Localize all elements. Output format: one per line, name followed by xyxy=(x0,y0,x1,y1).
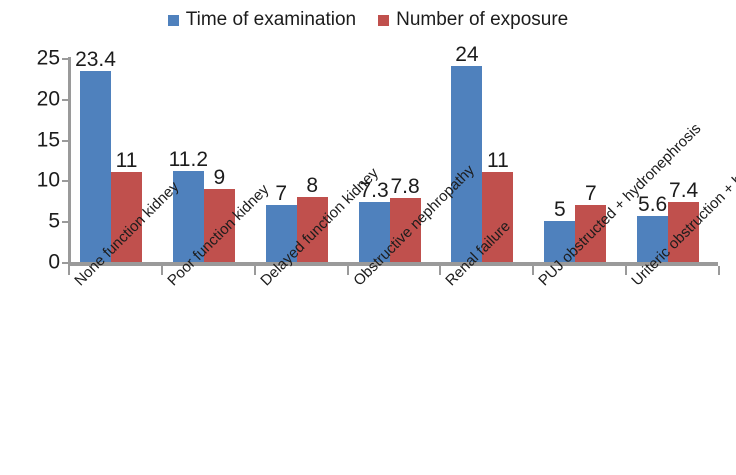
bar-value-label: 5.6 xyxy=(638,193,667,216)
bar-value-label: 8 xyxy=(306,174,318,197)
bar-value-label: 23.4 xyxy=(75,48,116,71)
y-axis-tick-label: 25 xyxy=(37,48,60,69)
bar-group: 78 xyxy=(254,58,347,262)
bar[interactable]: 23.4 xyxy=(80,71,111,262)
plot-area: 0510152025 23.41111.29787.37.82411575.67… xyxy=(68,58,718,262)
x-axis-line xyxy=(68,262,718,266)
bar-chart: Time of examination Number of exposure 0… xyxy=(0,0,736,475)
legend-label: Time of examination xyxy=(186,10,356,29)
legend-item-time-of-examination: Time of examination xyxy=(168,10,356,29)
bar-value-label: 24 xyxy=(455,43,478,66)
x-axis-tick-mark xyxy=(718,266,720,275)
y-axis-tick-label: 10 xyxy=(37,170,60,191)
y-axis-tick-mark xyxy=(62,262,68,264)
bar-group: 23.411 xyxy=(68,58,161,262)
x-axis-tick-mark xyxy=(347,266,349,275)
square-marker-icon xyxy=(378,15,389,26)
bar-value-label: 9 xyxy=(214,166,226,189)
bar-value-label: 7 xyxy=(275,182,287,205)
bar-group: 2411 xyxy=(439,58,532,262)
bar-value-label: 7 xyxy=(585,182,597,205)
y-axis-tick-label: 15 xyxy=(37,129,60,150)
bar-group: 7.37.8 xyxy=(347,58,440,262)
bar-group: 57 xyxy=(532,58,625,262)
legend-label: Number of exposure xyxy=(396,10,568,29)
y-axis-tick-label: 0 xyxy=(48,252,60,273)
x-axis-tick-mark xyxy=(532,266,534,275)
x-axis-tick-mark xyxy=(254,266,256,275)
x-axis-tick-mark xyxy=(439,266,441,275)
bar-value-label: 7.4 xyxy=(669,179,698,202)
y-axis-tick-label: 20 xyxy=(37,88,60,109)
bar-value-label: 5 xyxy=(554,198,566,221)
bar-value-label: 11 xyxy=(116,149,138,172)
bar-group: 11.29 xyxy=(161,58,254,262)
x-axis-tick-mark xyxy=(68,266,70,275)
bar-value-label: 11 xyxy=(487,149,509,172)
square-marker-icon xyxy=(168,15,179,26)
y-axis-tick-label: 5 xyxy=(48,211,60,232)
x-axis-tick-mark xyxy=(161,266,163,275)
x-axis-tick-mark xyxy=(625,266,627,275)
bar-value-label: 11.2 xyxy=(169,148,208,171)
chart-legend: Time of examination Number of exposure xyxy=(0,6,736,32)
legend-item-number-of-exposure: Number of exposure xyxy=(378,10,568,29)
bar-value-label: 7.8 xyxy=(390,175,419,198)
